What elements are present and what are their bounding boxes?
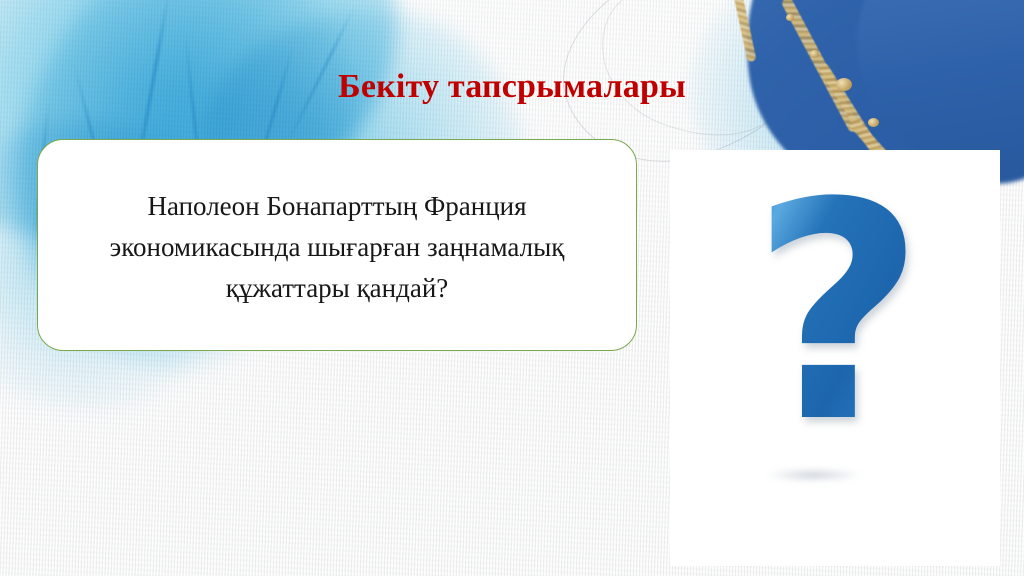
question-mark-glyph: ?: [670, 164, 1000, 464]
illustration-panel: ?: [670, 150, 1000, 566]
question-mark-shadow: [766, 468, 862, 482]
slide-canvas: Бекіту тапсрымалары Наполеон Бонапарттың…: [0, 0, 1024, 576]
question-mark-3d-icon: ?: [670, 150, 1000, 566]
page-title: Бекіту тапсрымалары: [0, 68, 1024, 106]
question-card: Наполеон Бонапарттың Франция экономикасы…: [37, 139, 637, 351]
question-text: Наполеон Бонапарттың Франция экономикасы…: [87, 186, 587, 309]
